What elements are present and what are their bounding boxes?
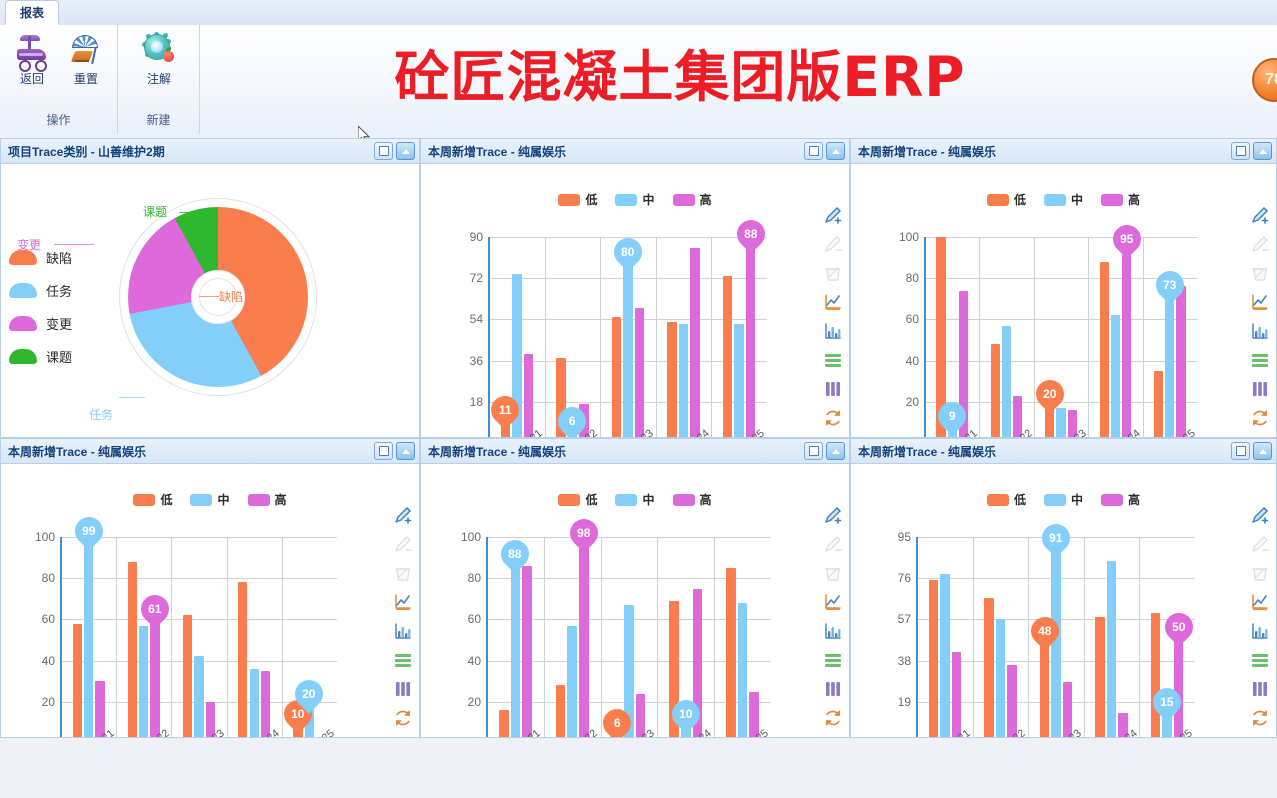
bar-chart-icon[interactable] bbox=[1250, 321, 1270, 341]
legend-swatch bbox=[558, 494, 580, 506]
bar[interactable] bbox=[567, 626, 577, 737]
ribbon-group-new: 注解 新建 bbox=[118, 25, 200, 134]
pie-callout-label: 任务 bbox=[89, 406, 113, 423]
legend-item[interactable]: 高 bbox=[1101, 191, 1140, 208]
edit-annotation-icon bbox=[823, 234, 843, 254]
legend-swatch bbox=[987, 494, 1009, 506]
y-axis-label: 80 bbox=[42, 571, 61, 585]
bar[interactable] bbox=[635, 308, 644, 437]
legend-label: 中 bbox=[642, 191, 654, 208]
panel-body: 低中高0204060801001408211408221408231408241… bbox=[851, 163, 1276, 437]
legend-swatch bbox=[9, 349, 37, 364]
chart-tool-rail bbox=[821, 505, 845, 737]
delete-annotation-icon bbox=[823, 263, 843, 283]
panel-title: 本周新增Trace - 纯属娱乐 bbox=[428, 143, 566, 160]
legend-swatch bbox=[1101, 494, 1123, 506]
pie-callout-line bbox=[199, 296, 219, 297]
chart-tool-rail bbox=[1248, 505, 1272, 737]
gridline-vertical bbox=[1028, 537, 1029, 737]
panel-header: 本周新增Trace - 纯属娱乐 bbox=[851, 439, 1276, 464]
y-axis-label: 80 bbox=[906, 271, 925, 285]
legend-label: 高 bbox=[275, 491, 287, 508]
bar[interactable] bbox=[991, 344, 1000, 437]
y-axis-label: 54 bbox=[470, 312, 489, 326]
value-marker-label: 11 bbox=[499, 403, 512, 417]
bar[interactable] bbox=[1063, 682, 1072, 737]
bar[interactable] bbox=[612, 317, 621, 437]
bar-chart-icon[interactable] bbox=[823, 621, 843, 641]
edit-annotation-icon bbox=[1250, 534, 1270, 554]
gridline-vertical bbox=[545, 237, 546, 437]
panel-p2: 本周新增Trace - 纯属娱乐低中高018365472901408211408… bbox=[420, 138, 850, 438]
legend-item[interactable]: 低 bbox=[133, 491, 172, 508]
pie-callout-line bbox=[179, 212, 201, 213]
bar[interactable] bbox=[1056, 408, 1065, 437]
restore-window-icon[interactable] bbox=[1231, 142, 1250, 160]
panel-header: 本周新增Trace - 纯属娱乐 bbox=[421, 139, 849, 164]
dashboard-grid: 项目Trace类别 - 山善维护2期缺陷任务变更课题缺陷任务变更课题本周新增Tr… bbox=[0, 138, 1277, 798]
value-marker[interactable]: 61 bbox=[135, 590, 175, 630]
edit-annotation-icon bbox=[823, 534, 843, 554]
legend-swatch bbox=[615, 494, 637, 506]
bar[interactable] bbox=[1111, 315, 1120, 437]
product-title: 砼匠混凝土集团版ERP bbox=[355, 36, 1005, 108]
y-axis-label: 60 bbox=[906, 312, 925, 326]
y-axis-label: 36 bbox=[470, 354, 489, 368]
value-marker-label: 10 bbox=[679, 707, 692, 721]
y-axis bbox=[916, 537, 918, 737]
gridline bbox=[61, 619, 337, 620]
bar[interactable] bbox=[511, 562, 521, 737]
legend-label: 高 bbox=[700, 191, 712, 208]
legend-label: 低 bbox=[160, 491, 172, 508]
bar[interactable] bbox=[1100, 262, 1109, 437]
bar[interactable] bbox=[1007, 665, 1016, 737]
refresh-icon[interactable] bbox=[823, 708, 843, 728]
delete-annotation-icon bbox=[1250, 563, 1270, 583]
line-chart-icon[interactable] bbox=[823, 292, 843, 312]
delete-annotation-icon bbox=[1250, 263, 1270, 283]
back-button[interactable]: 返回 bbox=[4, 30, 60, 92]
bar[interactable] bbox=[73, 624, 82, 737]
bar[interactable] bbox=[734, 324, 743, 437]
panel-header-buttons bbox=[804, 442, 845, 460]
horizontal-bars-icon[interactable] bbox=[823, 350, 843, 370]
gridline-vertical bbox=[1139, 537, 1140, 737]
pie-callout-line bbox=[54, 244, 94, 245]
bar[interactable] bbox=[1176, 286, 1185, 437]
pie-callout-label: 缺陷 bbox=[219, 288, 243, 305]
line-chart-icon[interactable] bbox=[393, 592, 413, 612]
legend-item[interactable]: 中 bbox=[190, 491, 229, 508]
chart-tool-rail bbox=[1248, 205, 1272, 437]
plot-area: 0204060801001408211408221408231408241408… bbox=[487, 537, 771, 737]
bar[interactable] bbox=[1151, 613, 1160, 737]
ribbon-group-operations: 返回 重置 操作 bbox=[0, 25, 118, 134]
erp-report-window: 报表 返回 bbox=[0, 0, 1277, 798]
legend-item[interactable]: 低 bbox=[987, 191, 1026, 208]
y-axis-label: 38 bbox=[898, 654, 917, 668]
bar[interactable] bbox=[1122, 247, 1131, 437]
legend-item[interactable]: 中 bbox=[615, 491, 654, 508]
horizontal-bars-icon[interactable] bbox=[1250, 350, 1270, 370]
value-marker-label: 48 bbox=[1038, 624, 1051, 638]
y-axis-label: 18 bbox=[470, 395, 489, 409]
bar[interactable] bbox=[984, 598, 993, 737]
legend-label: 高 bbox=[700, 491, 712, 508]
legend-swatch bbox=[9, 283, 37, 298]
y-axis-label: 20 bbox=[42, 695, 61, 709]
legend-label: 低 bbox=[585, 491, 597, 508]
pie-legend: 缺陷任务变更课题 bbox=[9, 248, 72, 366]
legend-item[interactable]: 低 bbox=[558, 191, 597, 208]
y-axis-label: 90 bbox=[470, 230, 489, 244]
plot-area: 0204060801001408211408221408231408241408… bbox=[61, 537, 337, 737]
gridline bbox=[61, 537, 337, 538]
chevron-up-icon[interactable] bbox=[826, 442, 845, 460]
chevron-up-icon[interactable] bbox=[396, 142, 415, 160]
panel-title: 项目Trace类别 - 山善维护2期 bbox=[8, 143, 165, 160]
bar[interactable] bbox=[1107, 561, 1116, 737]
value-marker-label: 98 bbox=[577, 526, 590, 540]
value-marker-label: 95 bbox=[1120, 232, 1133, 246]
panel-header-buttons bbox=[374, 142, 415, 160]
legend-label: 中 bbox=[217, 491, 229, 508]
bar[interactable] bbox=[679, 324, 688, 437]
vertical-bars-icon[interactable] bbox=[1250, 679, 1270, 699]
value-marker[interactable]: 98 bbox=[564, 513, 604, 553]
panel-p5: 本周新增Trace - 纯属娱乐低中高020406080100140821140… bbox=[420, 438, 850, 738]
refresh-icon[interactable] bbox=[393, 708, 413, 728]
annotation-button[interactable]: 注解 bbox=[131, 30, 187, 92]
legend-swatch bbox=[1101, 194, 1123, 206]
delete-annotation-icon bbox=[823, 563, 843, 583]
y-axis-label: 95 bbox=[898, 530, 917, 544]
legend-swatch bbox=[248, 494, 270, 506]
bar[interactable] bbox=[556, 685, 566, 737]
panel-header-buttons bbox=[374, 442, 415, 460]
panel-p1: 项目Trace类别 - 山善维护2期缺陷任务变更课题缺陷任务变更课题 bbox=[0, 138, 420, 438]
gridline-vertical bbox=[973, 537, 974, 737]
value-marker-label: 6 bbox=[614, 716, 621, 730]
y-axis-label: 100 bbox=[461, 530, 487, 544]
bar[interactable] bbox=[667, 322, 676, 437]
add-annotation-icon[interactable] bbox=[823, 205, 843, 225]
plot-area: 0183654729014082114082214082314082414082… bbox=[489, 237, 767, 437]
legend-label: 课题 bbox=[46, 347, 72, 366]
vertical-bars-icon[interactable] bbox=[823, 679, 843, 699]
annotation-burr-icon bbox=[142, 32, 176, 68]
y-axis bbox=[60, 537, 62, 737]
annotation-button-label: 注解 bbox=[147, 70, 171, 87]
panel-body: 缺陷任务变更课题缺陷任务变更课题 bbox=[1, 163, 419, 437]
legend-swatch bbox=[1044, 494, 1066, 506]
bar[interactable] bbox=[250, 669, 259, 737]
legend-item[interactable]: 高 bbox=[1101, 491, 1140, 508]
horizontal-bars-icon[interactable] bbox=[393, 650, 413, 670]
panel-p4: 本周新增Trace - 纯属娱乐低中高020406080100140821140… bbox=[0, 438, 420, 738]
value-marker-label: 99 bbox=[82, 524, 95, 538]
gridline-vertical bbox=[544, 537, 545, 737]
panel-p3: 本周新增Trace - 纯属娱乐低中高020406080100140821140… bbox=[850, 138, 1277, 438]
y-axis-label: 19 bbox=[898, 695, 917, 709]
panel-header-buttons bbox=[804, 142, 845, 160]
value-marker[interactable]: 50 bbox=[1159, 607, 1199, 647]
plot-area: 0204060801001408211408221408231408241408… bbox=[925, 237, 1197, 437]
value-marker-label: 80 bbox=[621, 245, 634, 259]
legend-label: 高 bbox=[1128, 491, 1140, 508]
delete-annotation-icon bbox=[393, 563, 413, 583]
chart-tool-rail bbox=[821, 205, 845, 437]
bar[interactable] bbox=[194, 656, 203, 737]
bar[interactable] bbox=[522, 566, 532, 737]
gridline-vertical bbox=[1088, 237, 1089, 437]
restore-window-icon[interactable] bbox=[804, 142, 823, 160]
y-axis-label: 100 bbox=[35, 530, 61, 544]
restore-window-icon[interactable] bbox=[374, 442, 393, 460]
bar[interactable] bbox=[690, 248, 699, 437]
y-axis-label: 72 bbox=[470, 271, 489, 285]
y-axis-label: 40 bbox=[42, 654, 61, 668]
bar-chart-icon[interactable] bbox=[1250, 621, 1270, 641]
legend-item[interactable]: 变更 bbox=[9, 314, 72, 333]
legend-item[interactable]: 低 bbox=[987, 491, 1026, 508]
bar[interactable] bbox=[84, 539, 93, 737]
bar[interactable] bbox=[1040, 639, 1049, 737]
legend-item[interactable]: 低 bbox=[558, 491, 597, 508]
refresh-icon[interactable] bbox=[1250, 708, 1270, 728]
bar[interactable] bbox=[1174, 635, 1183, 737]
legend-label: 中 bbox=[1071, 191, 1083, 208]
bar[interactable] bbox=[996, 619, 1005, 737]
chart-legend: 低中高 bbox=[1, 491, 419, 508]
bar-chart-icon[interactable] bbox=[393, 621, 413, 641]
y-axis-label: 76 bbox=[898, 571, 917, 585]
panel-body: 低中高0183654729014082114082214082314082414… bbox=[421, 163, 849, 437]
bar[interactable] bbox=[723, 276, 732, 437]
value-marker[interactable]: 99 bbox=[69, 511, 109, 551]
pie-callout-label: 课题 bbox=[143, 203, 167, 220]
bar[interactable] bbox=[1165, 293, 1174, 437]
refresh-icon[interactable] bbox=[391, 435, 415, 437]
bar[interactable] bbox=[128, 562, 137, 737]
value-marker-label: 91 bbox=[1049, 531, 1062, 545]
gridline-vertical bbox=[282, 537, 283, 737]
chevron-up-icon[interactable] bbox=[396, 442, 415, 460]
bar[interactable] bbox=[726, 568, 736, 737]
y-axis-label: 60 bbox=[468, 612, 487, 626]
legend-item[interactable]: 中 bbox=[615, 191, 654, 208]
chart-tool-rail bbox=[391, 505, 415, 737]
legend-item[interactable]: 中 bbox=[1044, 491, 1083, 508]
line-chart-icon[interactable] bbox=[1250, 592, 1270, 612]
bar-chart-icon[interactable] bbox=[823, 321, 843, 341]
reset-button[interactable]: 重置 bbox=[58, 30, 114, 92]
bar[interactable] bbox=[150, 617, 159, 737]
chart-legend: 低中高 bbox=[421, 191, 849, 208]
panel-header: 本周新增Trace - 纯属娱乐 bbox=[1, 439, 419, 464]
gridline-vertical bbox=[656, 237, 657, 437]
legend-item[interactable]: 任务 bbox=[9, 281, 72, 300]
bar[interactable] bbox=[499, 710, 509, 737]
gridline-vertical bbox=[600, 237, 601, 437]
y-axis-label: 20 bbox=[468, 695, 487, 709]
ribbon-group-new-label: 新建 bbox=[118, 111, 199, 128]
beach-umbrella-icon bbox=[69, 32, 103, 68]
gridline-vertical bbox=[116, 537, 117, 737]
y-axis-label: 40 bbox=[468, 654, 487, 668]
gridline bbox=[925, 237, 1197, 238]
y-axis-label: 20 bbox=[906, 395, 925, 409]
gridline-vertical bbox=[1034, 237, 1035, 437]
y-axis-label: 57 bbox=[898, 612, 917, 626]
bar[interactable] bbox=[738, 603, 748, 737]
y-axis-label: 60 bbox=[42, 612, 61, 626]
bar[interactable] bbox=[238, 582, 247, 737]
back-button-label: 返回 bbox=[20, 70, 44, 87]
value-marker[interactable]: 91 bbox=[1036, 518, 1076, 558]
bar[interactable] bbox=[524, 354, 533, 437]
legend-swatch bbox=[615, 194, 637, 206]
legend-label: 高 bbox=[1128, 191, 1140, 208]
pie-callout-line bbox=[119, 397, 145, 398]
panel-title: 本周新增Trace - 纯属娱乐 bbox=[858, 443, 996, 460]
y-axis-label: 40 bbox=[906, 354, 925, 368]
add-annotation-icon[interactable] bbox=[393, 505, 413, 525]
legend-label: 任务 bbox=[46, 281, 72, 300]
tab-reports[interactable]: 报表 bbox=[5, 0, 59, 25]
bar[interactable] bbox=[183, 615, 192, 737]
horizontal-bars-icon[interactable] bbox=[823, 650, 843, 670]
add-annotation-icon[interactable] bbox=[1250, 205, 1270, 225]
vertical-bars-icon[interactable] bbox=[393, 679, 413, 699]
bar[interactable] bbox=[261, 671, 270, 737]
chart-legend: 低中高 bbox=[851, 491, 1276, 508]
vertical-bars-icon[interactable] bbox=[823, 379, 843, 399]
legend-item[interactable]: 高 bbox=[248, 491, 287, 508]
legend-item[interactable]: 中 bbox=[1044, 191, 1083, 208]
legend-swatch bbox=[673, 494, 695, 506]
panel-title: 本周新增Trace - 纯属娱乐 bbox=[858, 143, 996, 160]
legend-swatch bbox=[133, 494, 155, 506]
legend-label: 中 bbox=[642, 491, 654, 508]
bar[interactable] bbox=[746, 242, 755, 437]
y-axis bbox=[924, 237, 926, 437]
chevron-up-icon[interactable] bbox=[1253, 142, 1272, 160]
legend-item[interactable]: 高 bbox=[673, 491, 712, 508]
bar[interactable] bbox=[929, 580, 938, 737]
value-marker-label: 9 bbox=[949, 409, 956, 423]
panel-header-buttons bbox=[1231, 442, 1272, 460]
gridline-vertical bbox=[171, 537, 172, 737]
edit-annotation-icon bbox=[1250, 234, 1270, 254]
gridline-vertical bbox=[1084, 537, 1085, 737]
bar[interactable] bbox=[95, 681, 104, 737]
legend-label: 低 bbox=[1014, 491, 1026, 508]
vertical-bars-icon[interactable] bbox=[1250, 379, 1270, 399]
bar[interactable] bbox=[952, 652, 961, 737]
bar[interactable] bbox=[940, 574, 949, 737]
reset-button-label: 重置 bbox=[74, 70, 98, 87]
legend-label: 低 bbox=[585, 191, 597, 208]
gridline-vertical bbox=[227, 537, 228, 737]
legend-swatch bbox=[558, 194, 580, 206]
restore-window-icon[interactable] bbox=[1231, 442, 1250, 460]
y-axis bbox=[486, 537, 488, 737]
bar[interactable] bbox=[139, 626, 148, 737]
legend-item[interactable]: 课题 bbox=[9, 347, 72, 366]
legend-swatch bbox=[9, 316, 37, 331]
line-chart-icon[interactable] bbox=[823, 592, 843, 612]
legend-swatch bbox=[987, 194, 1009, 206]
legend-label: 中 bbox=[1071, 491, 1083, 508]
gridline-vertical bbox=[714, 537, 715, 737]
gridline-vertical bbox=[979, 237, 980, 437]
gridline bbox=[61, 578, 337, 579]
value-marker-label: 20 bbox=[303, 687, 316, 701]
panel-body: 低中高0204060801001408211408221408231408241… bbox=[1, 463, 419, 737]
add-annotation-icon[interactable] bbox=[1250, 505, 1270, 525]
horizontal-bars-icon[interactable] bbox=[1250, 650, 1270, 670]
value-marker-label: 88 bbox=[744, 227, 757, 241]
chevron-up-icon[interactable] bbox=[826, 142, 845, 160]
panel-body: 低中高0204060801001408211408221408231408241… bbox=[421, 463, 849, 737]
legend-swatch bbox=[1044, 194, 1066, 206]
bar[interactable] bbox=[1154, 371, 1163, 437]
restore-window-icon[interactable] bbox=[374, 142, 393, 160]
value-marker-label: 10 bbox=[291, 707, 304, 721]
gridline-vertical bbox=[711, 237, 712, 437]
value-marker-label: 61 bbox=[148, 602, 161, 616]
chevron-up-icon[interactable] bbox=[1253, 442, 1272, 460]
add-annotation-icon[interactable] bbox=[823, 505, 843, 525]
value-marker[interactable]: 95 bbox=[1107, 219, 1147, 259]
bar[interactable] bbox=[749, 692, 759, 738]
back-sled-icon bbox=[15, 32, 49, 68]
value-marker-label: 88 bbox=[509, 547, 522, 561]
panel-p6: 本周新增Trace - 纯属娱乐低中高019385776951408211408… bbox=[850, 438, 1277, 738]
legend-item[interactable]: 高 bbox=[673, 191, 712, 208]
legend-swatch bbox=[673, 194, 695, 206]
panel-title: 本周新增Trace - 纯属娱乐 bbox=[428, 443, 566, 460]
line-chart-icon[interactable] bbox=[1250, 292, 1270, 312]
value-marker-label: 50 bbox=[1172, 620, 1185, 634]
pie-callout-label: 变更 bbox=[17, 236, 41, 253]
refresh-icon[interactable] bbox=[1250, 408, 1270, 428]
value-marker[interactable]: 80 bbox=[608, 232, 648, 272]
legend-label: 变更 bbox=[46, 314, 72, 333]
legend-label: 低 bbox=[1014, 191, 1026, 208]
bar[interactable] bbox=[1002, 326, 1011, 437]
value-marker-label: 15 bbox=[1161, 695, 1174, 709]
gridline-vertical bbox=[601, 537, 602, 737]
chart-legend: 低中高 bbox=[421, 491, 849, 508]
ribbon: 报表 返回 bbox=[0, 0, 1277, 134]
y-axis-label: 100 bbox=[899, 230, 925, 244]
bar[interactable] bbox=[623, 260, 632, 437]
value-marker-label: 20 bbox=[1043, 387, 1056, 401]
value-marker[interactable]: 88 bbox=[731, 214, 771, 254]
refresh-icon[interactable] bbox=[823, 408, 843, 428]
panel-title: 本周新增Trace - 纯属娱乐 bbox=[8, 443, 146, 460]
legend-label: 缺陷 bbox=[46, 248, 72, 267]
restore-window-icon[interactable] bbox=[804, 442, 823, 460]
value-marker-label: 6 bbox=[569, 414, 576, 428]
bar[interactable] bbox=[579, 541, 589, 737]
panel-body: 低中高0193857769514082114082214082314082414… bbox=[851, 463, 1276, 737]
bar[interactable] bbox=[1095, 617, 1104, 737]
pie-tool-rail bbox=[391, 435, 415, 437]
